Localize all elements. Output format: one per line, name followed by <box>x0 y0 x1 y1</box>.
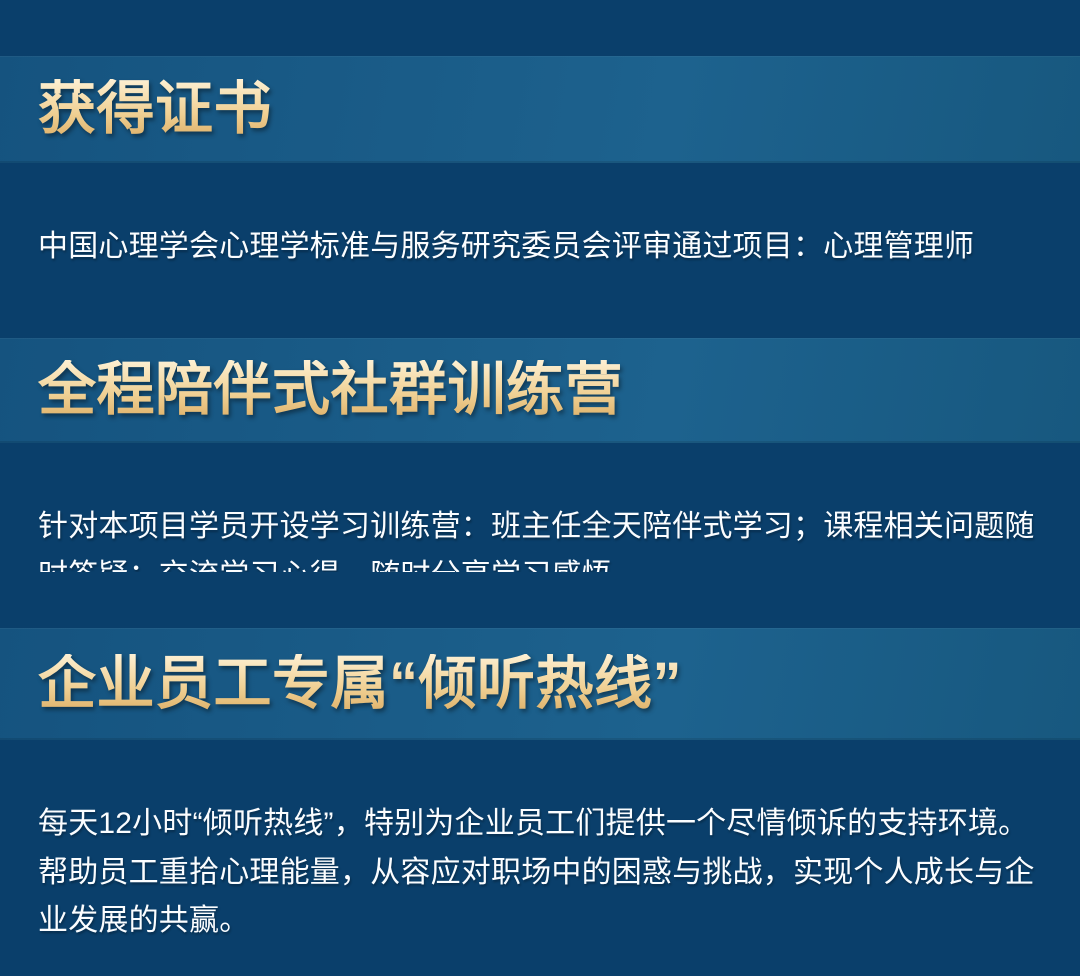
section-heading-title: 获得证书 <box>0 79 272 140</box>
section-body-wrap: 中国心理学会心理学标准与服务研究委员会评审通过项目：心理管理师 <box>0 163 1080 272</box>
section-body-text: 中国心理学会心理学标准与服务研究委员会评审通过项目：心理管理师 <box>38 223 1036 272</box>
section-body-wrap: 每天12小时“倾听热线”，特别为企业员工们提供一个尽情倾诉的支持环境。帮助员工重… <box>0 740 1080 946</box>
section-top-spacer <box>0 282 1080 338</box>
section-hotline: 企业员工专属“倾听热线” 每天12小时“倾听热线”，特别为企业员工们提供一个尽情… <box>0 572 1080 976</box>
section-heading-band: 企业员工专属“倾听热线” <box>0 628 1080 740</box>
section-heading-title: 全程陪伴式社群训练营 <box>0 360 623 421</box>
section-heading-band: 全程陪伴式社群训练营 <box>0 338 1080 443</box>
section-certificate: 获得证书 中国心理学会心理学标准与服务研究委员会评审通过项目：心理管理师 <box>0 0 1080 302</box>
section-body-text: 每天12小时“倾听热线”，特别为企业员工们提供一个尽情倾诉的支持环境。帮助员工重… <box>38 800 1036 946</box>
section-top-spacer <box>0 0 1080 56</box>
promo-poster: 获得证书 中国心理学会心理学标准与服务研究委员会评审通过项目：心理管理师 全程陪… <box>0 0 1080 976</box>
section-heading-title: 企业员工专属“倾听热线” <box>0 654 682 715</box>
section-top-spacer <box>0 572 1080 628</box>
section-heading-band: 获得证书 <box>0 56 1080 163</box>
